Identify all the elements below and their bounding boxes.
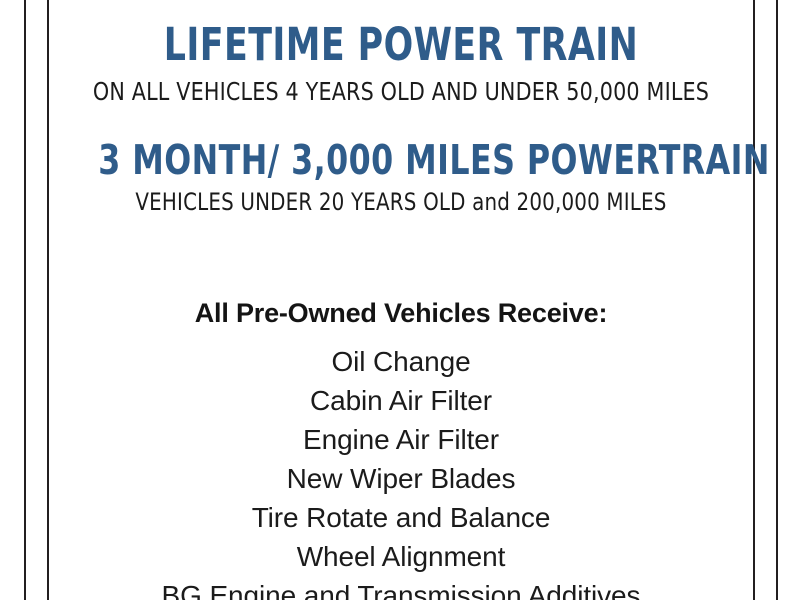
list-item: Wheel Alignment: [49, 537, 753, 576]
list-item: Cabin Air Filter: [49, 381, 753, 420]
list-item: New Wiper Blades: [49, 459, 753, 498]
list-item: Oil Change: [49, 342, 753, 381]
warranty-subtitle-three-month: VEHICLES UNDER 20 YEARS OLD and 200,000 …: [77, 190, 725, 214]
services-heading: All Pre-Owned Vehicles Receive:: [49, 300, 753, 327]
service-list: Oil Change Cabin Air Filter Engine Air F…: [49, 342, 753, 600]
warranty-headline-three-month: 3 MONTH/ 3,000 MILES POWERTRAIN: [98, 140, 703, 181]
warranty-headline-lifetime: LIFETIME POWER TRAIN: [98, 22, 703, 67]
services-section: All Pre-Owned Vehicles Receive: Oil Chan…: [49, 300, 753, 600]
warranty-flyer: LIFETIME POWER TRAIN ON ALL VEHICLES 4 Y…: [0, 0, 800, 600]
flyer-content: LIFETIME POWER TRAIN ON ALL VEHICLES 4 Y…: [49, 0, 753, 600]
list-item: Engine Air Filter: [49, 420, 753, 459]
list-item: BG Engine and Transmission Additives: [49, 576, 753, 600]
border-rule-right-outer: [776, 0, 778, 600]
border-rule-left-outer: [24, 0, 26, 600]
border-rule-right-inner: [753, 0, 755, 600]
warranty-subtitle-lifetime: ON ALL VEHICLES 4 YEARS OLD AND UNDER 50…: [77, 79, 725, 104]
list-item: Tire Rotate and Balance: [49, 498, 753, 537]
